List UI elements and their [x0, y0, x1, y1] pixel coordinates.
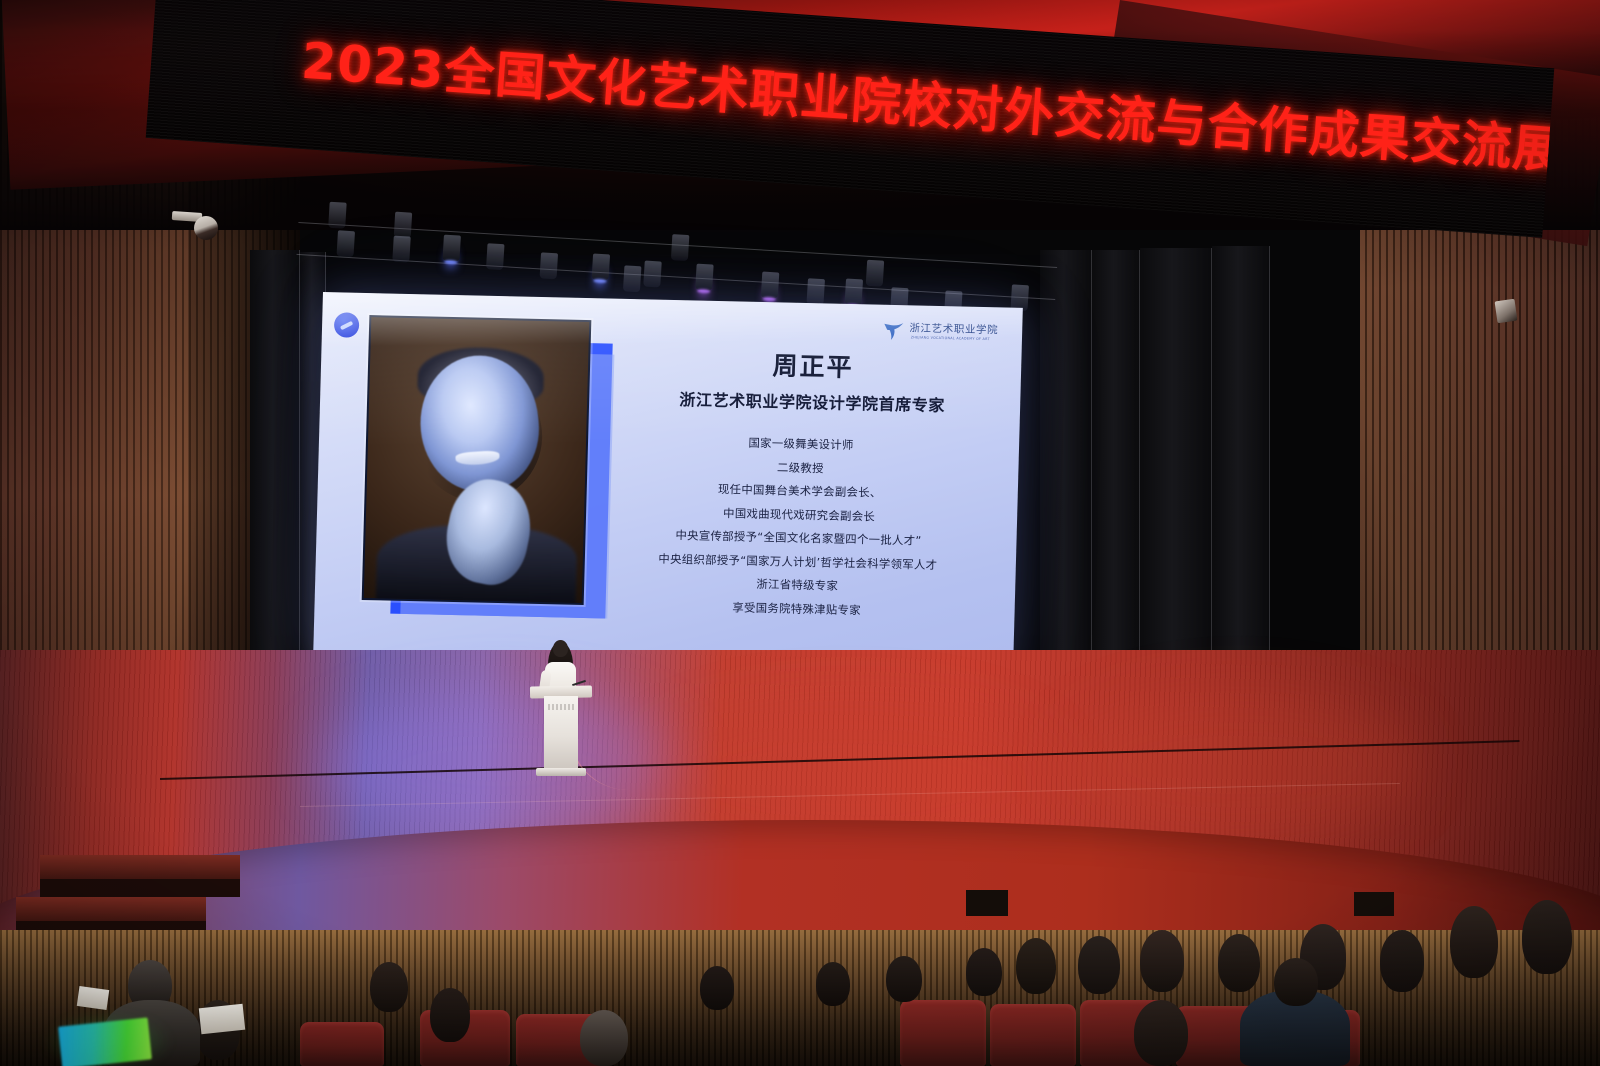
audience-member: [1380, 930, 1424, 992]
audience-member: [1078, 936, 1120, 994]
audience-member: [886, 956, 922, 1002]
handout-paper: [77, 986, 109, 1010]
theater-seat: [900, 1000, 986, 1066]
wall-vent: [1354, 892, 1394, 916]
projection-screen: 浙江艺术职业学院 ZHEJIANG VOCATIONAL ACADEMY OF …: [313, 292, 1023, 674]
handout-paper: [199, 1004, 245, 1034]
presentation-slide: 浙江艺术职业学院 ZHEJIANG VOCATIONAL ACADEMY OF …: [313, 292, 1023, 674]
audience-member: [430, 988, 470, 1042]
audience-member: [816, 962, 850, 1006]
audience-member: [1016, 938, 1056, 994]
auditorium-rear-wall-shadow: [0, 930, 1600, 1066]
audience-member: [966, 948, 1002, 996]
white-lectern: [530, 686, 592, 778]
audience-member: [1134, 1000, 1188, 1066]
laptop-screen-glow: [58, 1017, 152, 1066]
audience-member: [1522, 900, 1572, 974]
slide-sheen: [313, 292, 1023, 674]
audience-member: [1218, 934, 1260, 992]
audience-member: [1450, 906, 1498, 978]
security-camera-icon: [172, 204, 218, 246]
audience-member: [1274, 958, 1318, 1006]
wall-vent: [966, 890, 1008, 916]
auditorium-stage-photo: 2023全国文化艺术职业院校对外交流与合作成果交流展示活动: [0, 0, 1600, 1066]
theater-seat: [300, 1022, 384, 1066]
stage-curtain-panel: [250, 250, 300, 710]
audience-member: [1140, 930, 1184, 992]
audience-member: [580, 1010, 628, 1066]
audience-member: [370, 962, 408, 1012]
lectern-nameplate: [548, 704, 574, 710]
wall-speaker-icon: [1495, 299, 1518, 324]
audience-member: [700, 966, 734, 1010]
theater-seat: [990, 1004, 1076, 1066]
stage-light-pool: [1060, 690, 1420, 840]
stage-curtain-panel: [1212, 246, 1270, 720]
